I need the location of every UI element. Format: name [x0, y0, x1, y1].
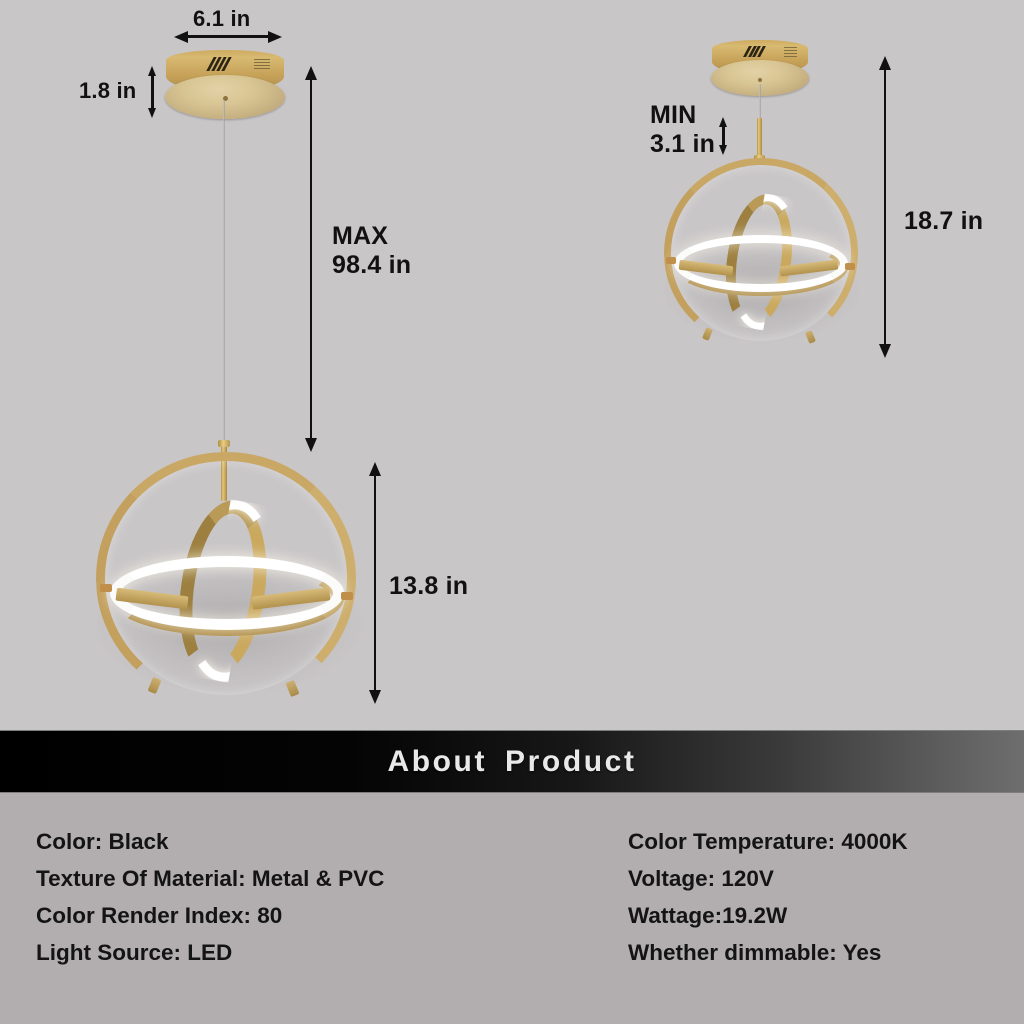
banner-title: About Product — [387, 745, 636, 779]
spec-item: Light Source: LED — [36, 934, 384, 971]
arrow-min-drop — [717, 117, 730, 155]
label-max-drop-value: 98.4 in — [332, 251, 411, 281]
label-canopy-height: 1.8 in — [79, 78, 136, 104]
canopy-left — [166, 50, 284, 122]
ring-connector-right-right-fixture — [845, 263, 855, 270]
spec-item: Color Temperature: 4000K — [628, 823, 908, 860]
canopy-vent-slots — [210, 57, 228, 71]
canopy-screw-right — [758, 78, 762, 82]
right-pendant-fixture — [600, 0, 920, 420]
ring-connector-left — [100, 584, 112, 592]
spec-item: Wattage:19.2W — [628, 897, 908, 934]
rod-cap-left — [218, 440, 230, 447]
arrow-max-drop — [304, 66, 318, 452]
label-max-drop-title: MAX — [332, 222, 388, 252]
ring-connector-right — [341, 592, 353, 600]
canopy-label-print-right — [784, 47, 797, 57]
spec-column-right: Color Temperature: 4000K Voltage: 120V W… — [628, 823, 908, 971]
specifications-panel: Color: Black Texture Of Material: Metal … — [0, 793, 1024, 1024]
label-total-height: 18.7 in — [904, 207, 983, 237]
arrow-canopy-width — [174, 30, 282, 43]
spec-item: Whether dimmable: Yes — [628, 934, 908, 971]
spec-item: Voltage: 120V — [628, 860, 908, 897]
label-min-drop-title: MIN — [650, 101, 696, 131]
label-canopy-width: 6.1 in — [193, 6, 250, 32]
drop-rod-right — [757, 118, 762, 160]
left-pendant-fixture — [0, 0, 520, 730]
spec-item: Color: Black — [36, 823, 384, 860]
spec-item: Texture Of Material: Metal & PVC — [36, 860, 384, 897]
arrow-fixture-height — [368, 462, 382, 704]
canopy-vent-slots-right — [746, 46, 762, 57]
suspension-wire-right — [759, 84, 761, 120]
canopy-label-print — [254, 59, 270, 71]
suspension-wire-left — [223, 100, 225, 445]
about-product-banner: About Product — [0, 730, 1024, 793]
ring-connector-left-right-fixture — [666, 257, 676, 264]
spec-item: Color Render Index: 80 — [36, 897, 384, 934]
label-min-drop-value: 3.1 in — [650, 130, 715, 160]
spec-column-left: Color: Black Texture Of Material: Metal … — [36, 823, 384, 971]
product-spec-sheet: 6.1 in 1.8 in MAX 98.4 in 13.8 in — [0, 0, 1024, 1024]
label-fixture-height: 13.8 in — [389, 572, 468, 602]
arrow-canopy-height — [146, 66, 159, 118]
diagram-area: 6.1 in 1.8 in MAX 98.4 in 13.8 in — [0, 0, 1024, 730]
arrow-total-height — [878, 56, 892, 358]
